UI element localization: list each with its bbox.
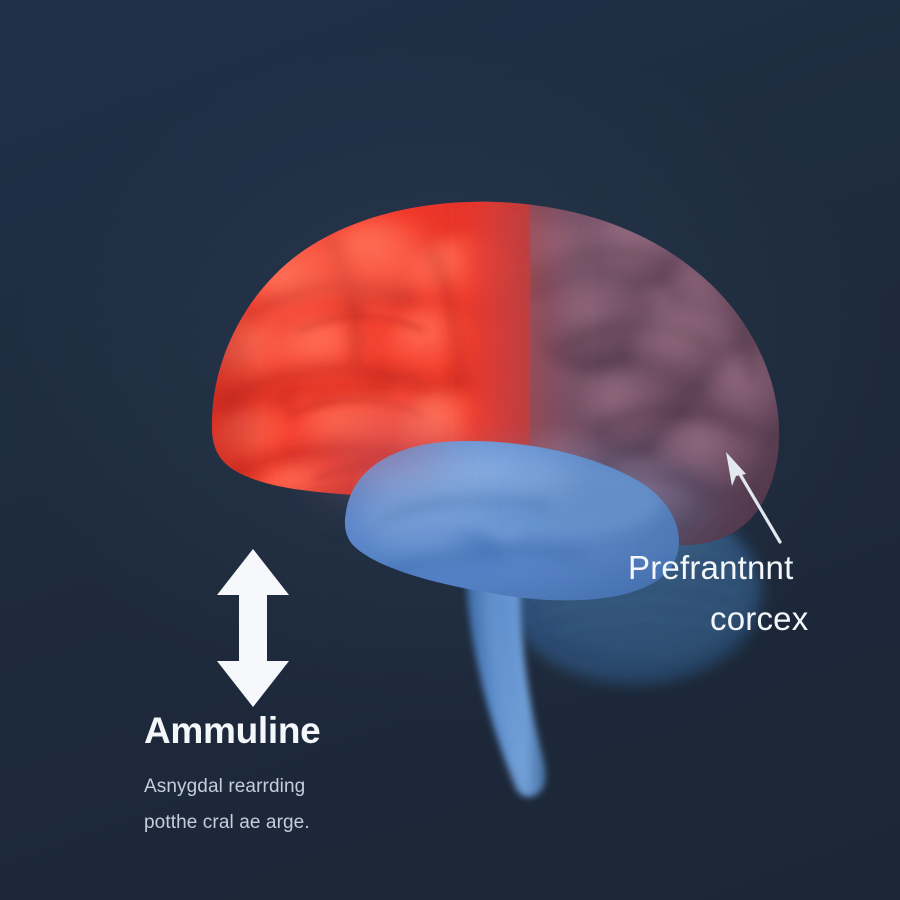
amygdala-title: Ammuline bbox=[144, 712, 474, 751]
arrow-diagonal-up-left-icon bbox=[712, 444, 802, 554]
prefrontal-cortex-title-line-1: Prefrantnnt bbox=[628, 542, 900, 593]
amygdala-description-line-1: Asnygdal rearrding bbox=[144, 769, 474, 805]
diagram-canvas: Ammuline Asnygdal rearrding potthe cral … bbox=[0, 0, 900, 900]
amygdala-annotation: Ammuline Asnygdal rearrding potthe cral … bbox=[144, 712, 474, 841]
amygdala-description-line-2: potthe cral ae arge. bbox=[144, 805, 474, 841]
double-arrow-vertical-icon bbox=[203, 543, 303, 713]
purple-blue-blend bbox=[538, 456, 718, 556]
red-blue-blend bbox=[318, 424, 458, 516]
prefrontal-cortex-title-line-2: corcex bbox=[628, 593, 900, 644]
amygdala-description: Asnygdal rearrding potthe cral ae arge. bbox=[144, 769, 474, 841]
prefrontal-cortex-title: Prefrantnnt corcex bbox=[628, 542, 900, 644]
prefrontal-cortex-annotation: Prefrantnnt corcex bbox=[628, 542, 900, 644]
